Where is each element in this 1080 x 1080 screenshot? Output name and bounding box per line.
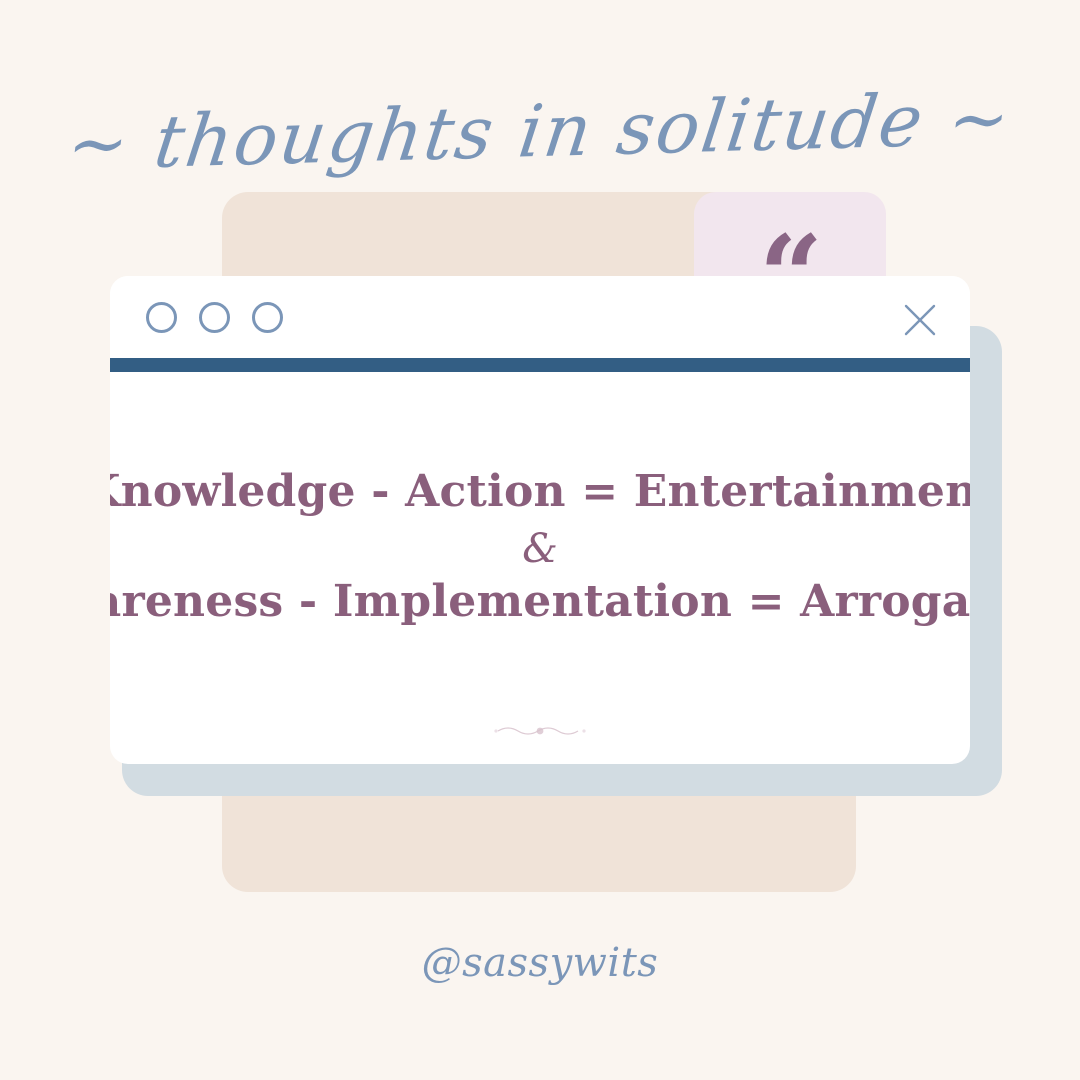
title-container: ~ thoughts in solitude ~ bbox=[0, 95, 1080, 167]
window-titlebar bbox=[110, 276, 970, 358]
window-accent-bar bbox=[110, 358, 970, 372]
quote-line-two: Awareness - Implementation = Arrogance bbox=[110, 580, 970, 625]
close-icon bbox=[902, 302, 938, 338]
quote-connector: & bbox=[522, 529, 558, 570]
ornamental-divider bbox=[260, 722, 820, 740]
account-handle[interactable]: @sassywits bbox=[422, 940, 659, 986]
footer-container: @sassywits bbox=[0, 940, 1080, 986]
page-title: ~ thoughts in solitude ~ bbox=[64, 82, 1016, 181]
traffic-light-maximize[interactable] bbox=[252, 302, 283, 333]
poster-canvas: ~ thoughts in solitude ~ “ Knowledge - A… bbox=[0, 0, 1080, 1080]
traffic-light-minimize[interactable] bbox=[199, 302, 230, 333]
traffic-light-close[interactable] bbox=[146, 302, 177, 333]
close-button[interactable] bbox=[902, 302, 938, 338]
window-content: Knowledge - Action = Entertainment & Awa… bbox=[110, 372, 970, 764]
quote-line-one: Knowledge - Action = Entertainment bbox=[110, 470, 970, 515]
browser-window-card: Knowledge - Action = Entertainment & Awa… bbox=[110, 276, 970, 764]
traffic-light-group bbox=[146, 302, 283, 333]
